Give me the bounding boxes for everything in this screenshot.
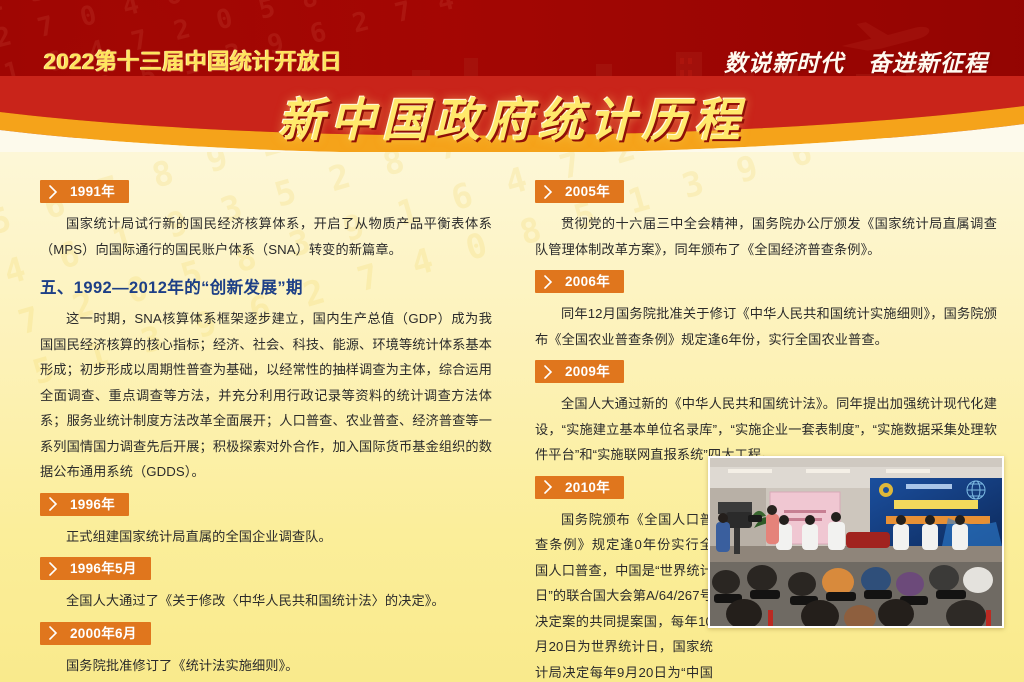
entry-text-1991: 国家统计局试行新的国民经济核算体系，开启了从物质产品平衡表体系（MPS）向国际通… xyxy=(40,211,492,262)
year-badge-2010: 2010年 xyxy=(535,476,624,499)
poster-title: 新中国政府统计历程 xyxy=(0,84,1024,150)
event-label: 2022第十三届中国统计开放日 xyxy=(44,44,342,76)
year-badge-label: 1991年 xyxy=(70,184,115,199)
chevron-right-icon xyxy=(544,275,553,289)
year-badge-label: 2006年 xyxy=(565,274,610,289)
header-slogan: 数说新时代 奋进新征程 xyxy=(724,44,988,78)
entry-text-2005: 贯彻党的十六届三中全会精神，国务院办公厅颁发《国家统计局直属调查队管理体制改革方… xyxy=(535,211,997,262)
chevron-right-icon xyxy=(49,497,58,511)
year-badge-1996-05: 1996年5月 xyxy=(40,557,151,580)
forum-photo-illustration xyxy=(710,458,1002,626)
chevron-right-icon xyxy=(49,185,58,199)
year-badge-label: 2009年 xyxy=(565,364,610,379)
year-badge-label: 2010年 xyxy=(565,480,610,495)
forum-photo xyxy=(708,456,1004,628)
chevron-right-icon xyxy=(544,480,553,494)
year-badge-label: 1996年 xyxy=(70,497,115,512)
year-badge-2009: 2009年 xyxy=(535,360,624,383)
chevron-right-icon xyxy=(49,626,58,640)
year-badge-label: 2005年 xyxy=(565,184,610,199)
entry-text-1996: 正式组建国家统计局直属的全国企业调查队。 xyxy=(40,524,492,550)
year-badge-label: 1996年5月 xyxy=(70,561,137,576)
section-body-text: 这一时期，SNA核算体系框架逐步建立，国内生产总值（GDP）成为我国国民经济核算… xyxy=(40,306,492,485)
year-badge-2006: 2006年 xyxy=(535,270,624,293)
year-badge-1996: 1996年 xyxy=(40,493,129,516)
chevron-right-icon xyxy=(49,562,58,576)
year-badge-2000-06: 2000年6月 xyxy=(40,622,151,645)
year-badge-1991: 1991年 xyxy=(40,180,129,203)
year-badge-label: 2000年6月 xyxy=(70,626,137,641)
section-heading: 五、1992—2012年的“创新发展”期 xyxy=(40,274,492,298)
entry-text-2006: 同年12月国务院批准关于修订《中华人民共和国统计实施细则》，国务院颁布《全国农业… xyxy=(535,301,997,352)
chevron-right-icon xyxy=(544,185,553,199)
entry-text-2000-06: 国务院批准修订了《统计法实施细则》。 xyxy=(40,653,492,679)
entry-text-2010: 国务院颁布《全国人口普查条例》规定逢0年份实行全国人口普查，中国是“世界统计日”… xyxy=(535,507,713,682)
poster-page: 0 1 2 3 4 5 6 7 8 9 2 0 1 5 3 7 8 6 4 2 … xyxy=(0,0,1024,682)
poster-header: 0 1 2 3 4 5 6 7 8 9 2 0 1 5 3 7 8 6 4 2 … xyxy=(0,0,1024,152)
chevron-right-icon xyxy=(544,365,553,379)
entry-text-1996-05: 全国人大通过了《关于修改〈中华人民共和国统计法〉的决定》。 xyxy=(40,588,492,614)
year-badge-2005: 2005年 xyxy=(535,180,624,203)
left-column: 1991年 国家统计局试行新的国民经济核算体系，开启了从物质产品平衡表体系（MP… xyxy=(40,180,492,682)
